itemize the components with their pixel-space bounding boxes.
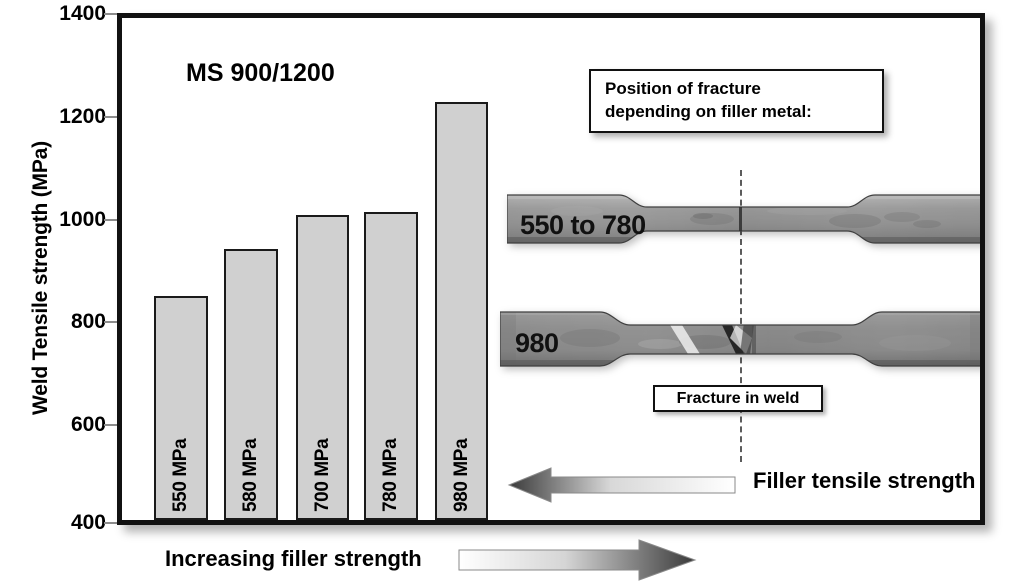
bar-700: 700 MPa bbox=[296, 215, 349, 520]
bar-label-780: 780 MPa bbox=[380, 439, 402, 512]
y-tick-mark-600 bbox=[104, 424, 117, 426]
specimen-1-label: 550 to 780 bbox=[520, 210, 646, 241]
y-axis-tick-layer: 1400 1200 1000 800 600 400 bbox=[34, 0, 106, 585]
specimen-2-label: 980 bbox=[515, 328, 559, 359]
bar-label-550: 550 MPa bbox=[170, 439, 192, 512]
fracture-position-callout: Position of fracture depending on filler… bbox=[589, 69, 884, 133]
chart-title: MS 900/1200 bbox=[186, 59, 335, 88]
filler-tensile-strength-arrow-icon bbox=[507, 465, 747, 505]
y-tick-mark-800 bbox=[104, 321, 117, 323]
bar-label-700: 700 MPa bbox=[312, 439, 334, 512]
y-tick-label-600: 600 bbox=[44, 413, 106, 437]
bar-label-wrap-980: 980 MPa bbox=[437, 382, 486, 512]
bar-550: 550 MPa bbox=[154, 296, 208, 520]
filler-tensile-strength-label: Filler tensile strength bbox=[753, 468, 976, 494]
increasing-filler-strength-label: Increasing filler strength bbox=[165, 546, 422, 572]
bar-label-580: 580 MPa bbox=[240, 439, 262, 512]
bar-580: 580 MPa bbox=[224, 249, 278, 520]
plot-area: MS 900/1200 550 MPa 580 MPa 700 MPa 7 bbox=[117, 13, 985, 525]
y-tick-label-1200: 1200 bbox=[44, 105, 106, 129]
y-tick-label-1400: 1400 bbox=[44, 2, 106, 26]
fracture-position-line-1: Position of fracture bbox=[605, 78, 870, 101]
bar-label-wrap-580: 580 MPa bbox=[226, 382, 276, 512]
plot-inner: MS 900/1200 550 MPa 580 MPa 700 MPa 7 bbox=[122, 18, 980, 520]
bar-label-wrap-780: 780 MPa bbox=[366, 382, 416, 512]
bar-label-wrap-550: 550 MPa bbox=[156, 382, 206, 512]
y-tick-label-800: 800 bbox=[44, 310, 106, 334]
bar-label-980: 980 MPa bbox=[451, 439, 473, 512]
increasing-filler-strength-arrow-icon bbox=[457, 538, 697, 582]
fracture-in-weld-callout: Fracture in weld bbox=[653, 385, 823, 412]
increasing-filler-strength-band: Increasing filler strength bbox=[117, 530, 907, 585]
y-tick-label-1000: 1000 bbox=[44, 208, 106, 232]
y-tick-mark-400 bbox=[104, 522, 117, 524]
figure-root: Weld Tensile strength (MPa) 1400 1200 10… bbox=[0, 0, 1024, 585]
y-tick-mark-1200 bbox=[104, 116, 117, 118]
fracture-position-line-2: depending on filler metal: bbox=[605, 101, 870, 124]
bar-980: 980 MPa bbox=[435, 102, 488, 520]
bar-780: 780 MPa bbox=[364, 212, 418, 520]
y-tick-mark-1400 bbox=[104, 13, 117, 15]
y-tick-label-400: 400 bbox=[44, 511, 106, 535]
filler-tensile-strength-group: Filler tensile strength bbox=[507, 465, 927, 507]
y-tick-mark-1000 bbox=[104, 219, 117, 221]
specimen-photo-980 bbox=[500, 308, 980, 374]
bar-label-wrap-700: 700 MPa bbox=[298, 382, 347, 512]
